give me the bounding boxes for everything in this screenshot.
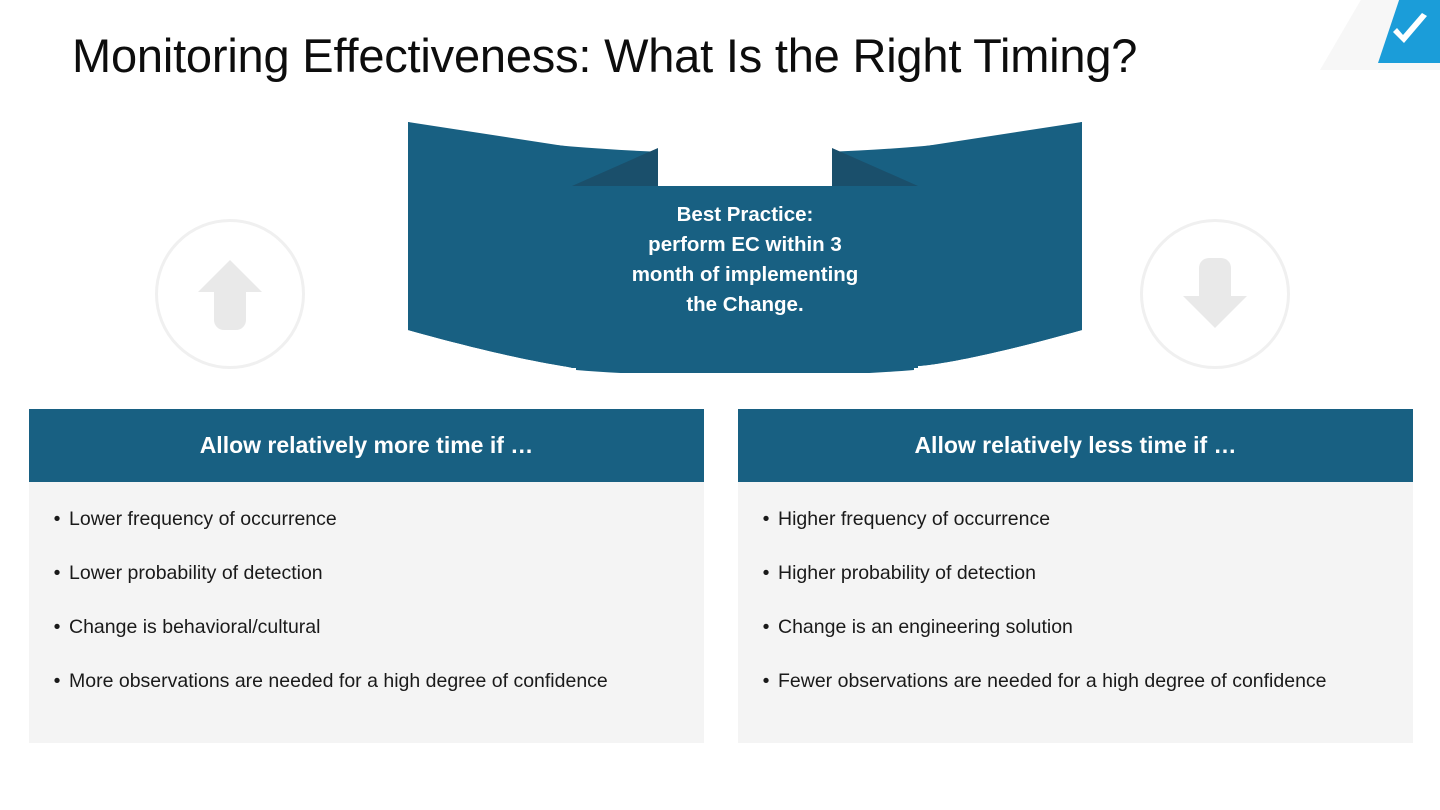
slide-canvas: Monitoring Effectiveness: What Is the Ri… [0, 0, 1440, 810]
panel-more-time: Allow relatively more time if … • Lower … [29, 409, 704, 743]
list-item: • Change is behavioral/cultural [45, 612, 678, 642]
brand-logo [1320, 0, 1440, 70]
list-item-text: Change is behavioral/cultural [69, 612, 678, 642]
ribbon-line-1: Best Practice: [400, 200, 1090, 230]
decoration-circle-up [155, 219, 305, 369]
panel-less-time-body: • Higher frequency of occurrence • Highe… [738, 482, 1413, 696]
bullet-icon: • [45, 612, 69, 642]
page-title: Monitoring Effectiveness: What Is the Ri… [72, 28, 1137, 83]
list-item-text: More observations are needed for a high … [69, 666, 678, 696]
bullet-icon: • [45, 666, 69, 696]
list-item: • Lower frequency of occurrence [45, 504, 678, 534]
bullet-icon: • [45, 558, 69, 588]
bullet-icon: • [754, 612, 778, 642]
bullet-icon: • [754, 504, 778, 534]
panel-more-time-header: Allow relatively more time if … [29, 409, 704, 482]
list-item-text: Higher probability of detection [778, 558, 1387, 588]
list-item: • Change is an engineering solution [754, 612, 1387, 642]
list-item-text: Fewer observations are needed for a high… [778, 666, 1387, 696]
list-item-text: Change is an engineering solution [778, 612, 1387, 642]
list-item-text: Lower frequency of occurrence [69, 504, 678, 534]
list-item: • Higher frequency of occurrence [754, 504, 1387, 534]
checkmark-icon [1388, 12, 1432, 52]
list-item-text: Lower probability of detection [69, 558, 678, 588]
ribbon-line-2: perform EC within 3 [400, 230, 1090, 260]
ribbon-text-block: Best Practice: perform EC within 3 month… [400, 200, 1090, 320]
arrow-down-icon [1181, 258, 1249, 330]
arrow-up-icon [196, 258, 264, 330]
bullet-icon: • [754, 666, 778, 696]
panel-more-time-body: • Lower frequency of occurrence • Lower … [29, 482, 704, 696]
bullet-icon: • [754, 558, 778, 588]
ribbon-center-notch [658, 148, 832, 186]
panel-less-time-header: Allow relatively less time if … [738, 409, 1413, 482]
list-item: • More observations are needed for a hig… [45, 666, 678, 696]
decoration-circle-down [1140, 219, 1290, 369]
bullet-icon: • [45, 504, 69, 534]
list-item: • Fewer observations are needed for a hi… [754, 666, 1387, 696]
list-item: • Higher probability of detection [754, 558, 1387, 588]
list-item-text: Higher frequency of occurrence [778, 504, 1387, 534]
best-practice-ribbon: Best Practice: perform EC within 3 month… [400, 118, 1090, 373]
ribbon-line-3: month of implementing [400, 260, 1090, 290]
ribbon-line-4: the Change. [400, 290, 1090, 320]
panel-less-time: Allow relatively less time if … • Higher… [738, 409, 1413, 743]
list-item: • Lower probability of detection [45, 558, 678, 588]
